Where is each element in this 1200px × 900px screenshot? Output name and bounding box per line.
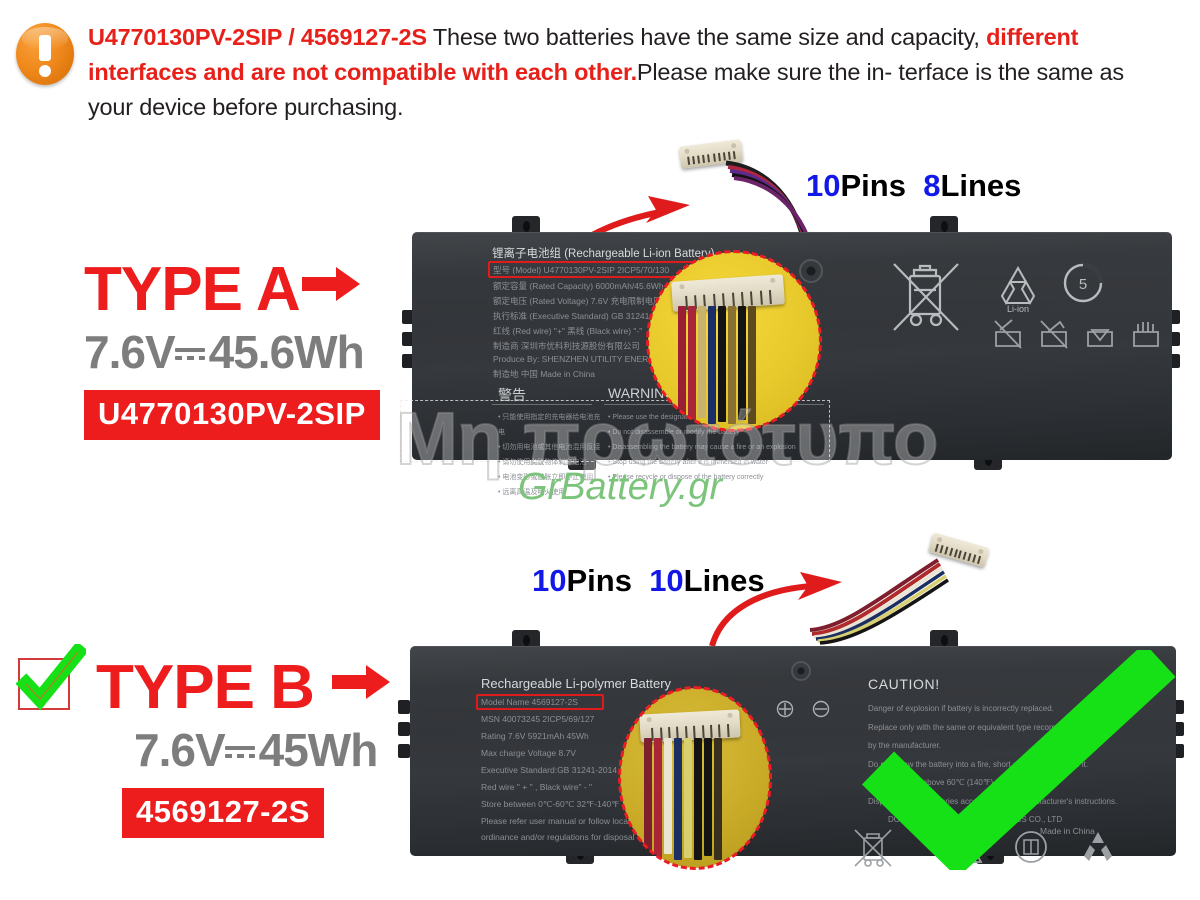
no-crush-icon bbox=[1038, 318, 1070, 352]
battery-b-label-heading: Rechargeable Li-polymer Battery bbox=[481, 676, 671, 691]
battery-a-maker-cn: 制造商 深圳市优科利技源股份有限公司 bbox=[493, 340, 640, 352]
battery-a-model-line: 型号 (Model) U4770130PV-2SIP 2ICP5/70/130 bbox=[493, 264, 669, 276]
battery-a-screw-boss bbox=[798, 258, 824, 284]
checked-box-icon bbox=[18, 658, 70, 710]
battery-b-store-line: Store between 0℃-60℃ 32℉-140℉ bbox=[481, 799, 619, 810]
type-a-capacity: 45.6Wh bbox=[209, 326, 364, 378]
battery-b-screw-boss bbox=[790, 660, 812, 682]
notice-model-pair: U4770130PV-2SIP / 4569127-2S bbox=[88, 24, 427, 50]
battery-b-standard-line: Executive Standard:GB 31241-2014 bbox=[481, 765, 617, 775]
crossed-out-wheelie-bin-icon bbox=[890, 258, 962, 338]
battery-a-capacity-line: 额定容量 (Rated Capacity) 6000mAh/45.6Wh bbox=[493, 280, 664, 292]
type-a-voltage: 7.6V bbox=[84, 326, 175, 378]
type-a-pins-label: Pins bbox=[840, 168, 905, 203]
type-a-title-row: TYPE A bbox=[84, 252, 380, 322]
type-b-model-badge: 4569127-2S bbox=[122, 788, 324, 838]
type-b-caption: TYPE B 7.6V45Wh 4569127-2S bbox=[96, 650, 392, 838]
right-arrow-icon bbox=[330, 650, 392, 714]
battery-b-manual-line2: ordinance and/or regulations for disposa… bbox=[481, 832, 635, 842]
dc-current-icon bbox=[175, 344, 209, 364]
type-b-pins-count: 10 bbox=[532, 563, 566, 598]
battery-a-standard-line: 执行标准 (Executive Standard) GB 31241-2014 bbox=[493, 310, 671, 322]
minus-terminal-icon bbox=[812, 700, 830, 718]
dc-current-icon bbox=[225, 742, 259, 762]
battery-b-side-tab bbox=[398, 744, 410, 758]
type-a-lines-count: 8 bbox=[923, 168, 940, 203]
battery-a-origin: 制造地 中国 Made in China bbox=[493, 368, 595, 380]
battery-b-side-tab bbox=[398, 700, 410, 714]
battery-b-model-line: Model Name 4569127-2S bbox=[481, 697, 578, 707]
no-fire-icon bbox=[1130, 318, 1162, 352]
notice-text: U4770130PV-2SIP / 4569127-2S These two b… bbox=[88, 20, 1160, 125]
type-a-lines-label: Lines bbox=[940, 168, 1021, 203]
type-a-caption: TYPE A 7.6V45.6Wh U4770130PV-2SIP bbox=[84, 252, 380, 440]
battery-a-label-heading: 锂离子电池组 (Rechargeable Li-ion Battery) bbox=[492, 245, 714, 261]
type-b-voltage-row: 7.6V45Wh bbox=[96, 724, 392, 776]
type-a-model-badge: U4770130PV-2SIP bbox=[84, 390, 380, 440]
type-b-magnifier-ring bbox=[618, 686, 772, 870]
battery-a-wire-line: 红线 (Red wire) "+" 黑线 (Black wire) "-" bbox=[493, 325, 642, 337]
china-rohs-5-icon: 5 bbox=[1060, 260, 1106, 306]
green-check-icon bbox=[860, 650, 1180, 870]
notice-line1: These two batteries have the same size a… bbox=[433, 24, 980, 50]
battery-b-side-tab bbox=[398, 722, 410, 736]
type-b-lines-count: 10 bbox=[649, 563, 683, 598]
notice-line2-plain: Please make sure the in- bbox=[637, 59, 892, 85]
notice-banner: U4770130PV-2SIP / 4569127-2S These two b… bbox=[0, 0, 1200, 126]
watermark-sub: GrBattery.gr bbox=[518, 466, 722, 509]
battery-b-wire-line: Red wire " + " , Black wire" - " bbox=[481, 782, 592, 792]
type-a-voltage-row: 7.6V45.6Wh bbox=[84, 326, 380, 378]
green-check-glyph bbox=[16, 644, 86, 714]
type-b-voltage: 7.6V bbox=[134, 724, 225, 776]
type-b-title: TYPE B bbox=[96, 653, 314, 722]
right-arrow-icon bbox=[300, 252, 362, 316]
recycle-li-ion-icon: Li-ion bbox=[994, 262, 1042, 314]
svg-text:5: 5 bbox=[1079, 276, 1087, 293]
type-b-title-row: TYPE B bbox=[96, 650, 392, 720]
svg-text:Li-ion: Li-ion bbox=[1007, 304, 1029, 314]
battery-b-msn-line: MSN 40073245 2ICP5/69/127 bbox=[481, 714, 594, 724]
type-b-capacity: 45Wh bbox=[259, 724, 378, 776]
type-a-title: TYPE A bbox=[84, 255, 300, 324]
battery-comparison-page: U4770130PV-2SIP / 4569127-2S These two b… bbox=[0, 0, 1200, 900]
battery-b-manual-line1: Please refer user manual or follow local bbox=[481, 816, 630, 826]
plus-terminal-icon bbox=[776, 700, 794, 718]
no-heat-icon bbox=[1084, 318, 1116, 352]
type-b-pins-label: Pins bbox=[566, 563, 631, 598]
warning-exclamation-icon bbox=[14, 18, 76, 94]
no-puncture-icon bbox=[992, 318, 1024, 352]
battery-b-rating-line: Rating 7.6V 5921mAh 45Wh bbox=[481, 731, 589, 741]
battery-b-maxcharge-line: Max charge Voltage 8.7V bbox=[481, 748, 576, 758]
